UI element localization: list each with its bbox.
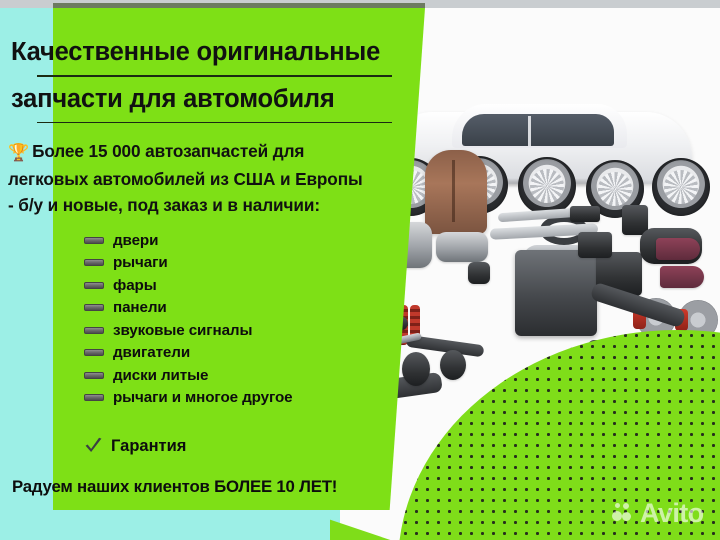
check-icon <box>84 437 103 456</box>
subhead-line-2: легковых автомобилей из США и Европы <box>8 169 363 189</box>
feature-label: рычаги и многое другое <box>113 389 293 406</box>
list-item: фары <box>84 274 414 297</box>
list-item: диски литые <box>84 364 414 387</box>
dash-bullet-icon <box>84 349 104 356</box>
dash-bullet-icon <box>84 394 104 401</box>
wheel <box>652 158 710 216</box>
features-list: двери рычаги фары панели звуковые сигнал… <box>84 229 414 409</box>
ecu-module <box>570 206 600 222</box>
subheading: 🏆Более 15 000 автозапчастей для легковых… <box>8 138 428 218</box>
headline-divider <box>37 75 392 77</box>
dash-bullet-icon <box>84 372 104 379</box>
dash-bullet-icon <box>84 237 104 244</box>
car-window-divider <box>528 116 531 146</box>
list-item: двери <box>84 229 414 252</box>
guarantee-label: Гарантия <box>111 437 186 456</box>
headline-line-2: запчасти для автомобиля <box>11 79 431 120</box>
footer-text: Радуем наших клиентов БОЛЕЕ 10 ЛЕТ! <box>12 477 337 497</box>
feature-label: двигатели <box>113 344 190 361</box>
avito-wordmark: Avito <box>640 500 704 527</box>
dash-bullet-icon <box>84 282 104 289</box>
trophy-icon: 🏆 <box>8 143 29 162</box>
guarantee-row: Гарантия <box>84 437 186 456</box>
feature-label: звуковые сигналы <box>113 322 252 339</box>
list-item: рычаги <box>84 252 414 275</box>
feature-label: двери <box>113 232 158 249</box>
page-title: Качественные оригинальные запчасти для а… <box>11 32 431 123</box>
subhead-line-1: Более 15 000 автозапчастей для <box>32 141 304 161</box>
list-item: двигатели <box>84 342 414 365</box>
feature-label: панели <box>113 299 167 316</box>
avito-watermark: Avito <box>612 500 704 527</box>
feature-label: рычаги <box>113 254 168 271</box>
avito-logo-icon <box>612 503 636 525</box>
tail-light <box>660 266 704 288</box>
headline-divider <box>37 122 392 124</box>
list-item: звуковые сигналы <box>84 319 414 342</box>
dash-bullet-icon <box>84 327 104 334</box>
sensor-module <box>468 262 490 284</box>
feature-label: фары <box>113 277 157 294</box>
advertisement-poster: Качественные оригинальные запчасти для а… <box>0 0 720 540</box>
headline-line-1: Качественные оригинальные <box>11 38 380 66</box>
list-item: рычаги и многое другое <box>84 387 414 410</box>
feature-label: диски литые <box>113 367 208 384</box>
tail-light <box>656 238 700 260</box>
text-content: Качественные оригинальные запчасти для а… <box>0 0 440 540</box>
transmission-part <box>436 232 488 262</box>
dash-bullet-icon <box>84 304 104 311</box>
dash-bullet-icon <box>84 259 104 266</box>
subhead-line-3: - б/у и новые, под заказ и в наличии: <box>8 195 320 215</box>
battery <box>578 232 612 258</box>
wheel <box>518 157 576 215</box>
list-item: панели <box>84 297 414 320</box>
car-window-glass <box>462 114 614 146</box>
